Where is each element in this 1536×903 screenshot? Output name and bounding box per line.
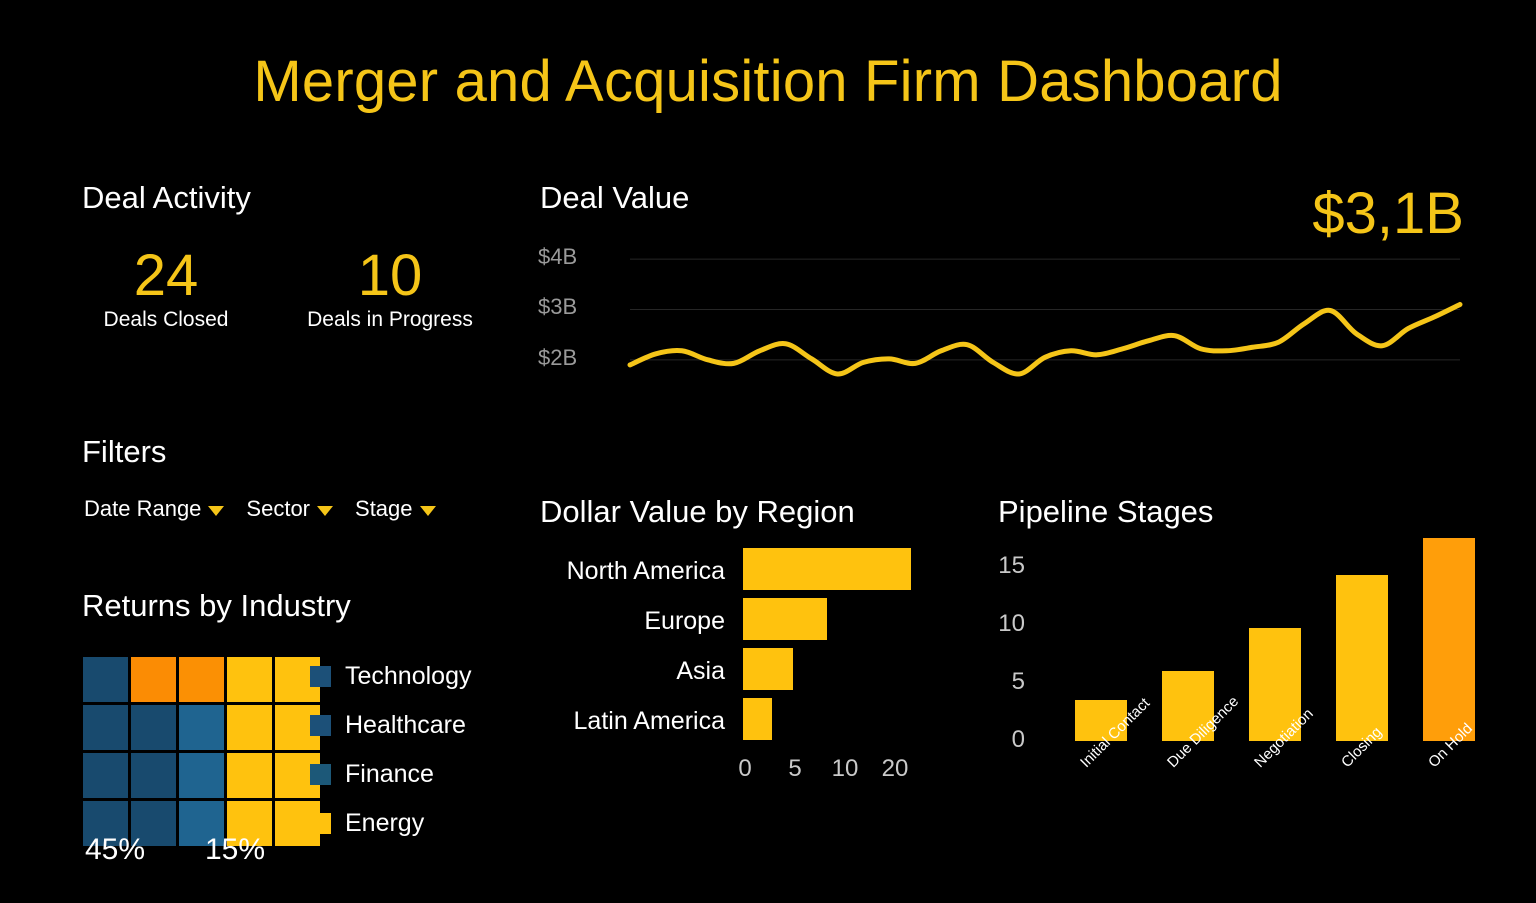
legend-label: Healthcare: [345, 711, 466, 740]
legend-swatch-icon: [310, 813, 331, 834]
legend-label: Technology: [345, 662, 471, 691]
heatmap-cell[interactable]: [227, 753, 272, 798]
pipeline-y-tick: 15: [985, 552, 1025, 580]
filter-date-range[interactable]: Date Range: [84, 496, 224, 522]
heatmap-cell[interactable]: [83, 753, 128, 798]
legend-swatch-icon: [310, 764, 331, 785]
returns-heatmap-legend: TechnologyHealthcareFinanceEnergy: [310, 662, 471, 838]
kpi-deals-in-progress-label: Deals in Progress: [295, 307, 485, 333]
dashboard-root: Merger and Acquisition Firm Dashboard De…: [0, 0, 1536, 903]
heatmap-cell[interactable]: [83, 705, 128, 750]
pipeline-y-tick: 5: [985, 668, 1025, 696]
legend-swatch-icon: [310, 715, 331, 736]
heatmap-cell[interactable]: [227, 705, 272, 750]
region-x-tick: 5: [788, 755, 801, 783]
legend-item-energy[interactable]: Energy: [310, 809, 471, 838]
region-bar[interactable]: [743, 598, 827, 640]
deal-activity-title: Deal Activity: [82, 180, 251, 216]
region-bar[interactable]: [743, 698, 772, 740]
region-x-tick: 10: [832, 755, 859, 783]
heatmap-percent-label: 15%: [205, 833, 325, 867]
kpi-deals-in-progress-value: 10: [295, 245, 485, 307]
heatmap-cell[interactable]: [131, 753, 176, 798]
pipeline-bar-chart: 151050Initial ContactDue DiligenceNegoti…: [985, 520, 1485, 890]
region-x-tick: 20: [882, 755, 909, 783]
legend-item-healthcare[interactable]: Healthcare: [310, 711, 471, 740]
pipeline-y-tick: 10: [985, 610, 1025, 638]
pipeline-bar[interactable]: [1336, 575, 1388, 741]
pipeline-bar[interactable]: [1423, 538, 1475, 741]
filter-stage-label: Stage: [355, 496, 413, 522]
filter-stage[interactable]: Stage: [355, 496, 436, 522]
filters-row: Date Range Sector Stage: [84, 496, 436, 522]
region-bar-chart: 051020 North AmericaEuropeAsiaLatin Amer…: [538, 540, 938, 790]
region-chart-title: Dollar Value by Region: [540, 494, 855, 530]
kpi-deals-closed: 24 Deals Closed: [88, 245, 244, 333]
kpi-deals-closed-label: Deals Closed: [88, 307, 244, 333]
legend-label: Finance: [345, 760, 434, 789]
heatmap-cell[interactable]: [179, 753, 224, 798]
chevron-down-icon: [317, 506, 333, 516]
legend-item-technology[interactable]: Technology: [310, 662, 471, 691]
heatmap-cell[interactable]: [83, 657, 128, 702]
heatmap-percent-label: 45%: [85, 833, 205, 867]
kpi-deals-closed-value: 24: [88, 245, 244, 307]
filter-date-range-label: Date Range: [84, 496, 201, 522]
returns-heatmap: [83, 657, 320, 846]
deal-value-line-svg: [538, 228, 1468, 398]
deal-value-y-tick: $3B: [538, 294, 577, 320]
kpi-deals-in-progress: 10 Deals in Progress: [295, 245, 485, 333]
region-bar-label: Latin America: [574, 707, 725, 736]
pipeline-y-tick: 0: [985, 726, 1025, 754]
heatmap-cell[interactable]: [131, 705, 176, 750]
deal-value-y-tick: $2B: [538, 345, 577, 371]
legend-label: Energy: [345, 809, 424, 838]
page-title: Merger and Acquisition Firm Dashboard: [0, 48, 1536, 115]
region-bar[interactable]: [743, 548, 911, 590]
heatmap-cell[interactable]: [131, 657, 176, 702]
deal-value-y-tick: $4B: [538, 244, 577, 270]
returns-by-industry-title: Returns by Industry: [82, 588, 351, 624]
legend-swatch-icon: [310, 666, 331, 687]
deal-value-line-series: [630, 304, 1460, 374]
returns-heatmap-axis-labels: 45%15%: [85, 833, 325, 867]
region-x-tick: 0: [738, 755, 751, 783]
region-bar-label: North America: [567, 557, 725, 586]
deal-value-line-chart: $4B$3B$2B: [538, 228, 1468, 398]
region-chart-x-axis: 051020: [743, 755, 943, 785]
filters-title: Filters: [82, 434, 166, 470]
legend-item-finance[interactable]: Finance: [310, 760, 471, 789]
deal-value-title: Deal Value: [540, 180, 689, 216]
filter-sector[interactable]: Sector: [246, 496, 333, 522]
chevron-down-icon: [420, 506, 436, 516]
chevron-down-icon: [208, 506, 224, 516]
heatmap-cell[interactable]: [227, 657, 272, 702]
heatmap-cell[interactable]: [179, 657, 224, 702]
region-bar-label: Asia: [676, 657, 725, 686]
region-bar-label: Europe: [644, 607, 725, 636]
region-bar[interactable]: [743, 648, 793, 690]
heatmap-cell[interactable]: [179, 705, 224, 750]
filter-sector-label: Sector: [246, 496, 310, 522]
